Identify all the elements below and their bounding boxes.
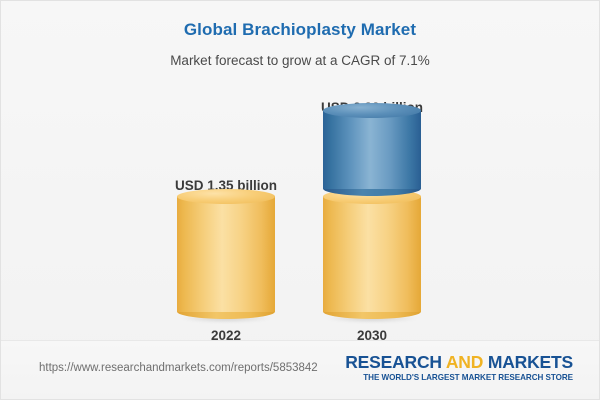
cylinder-top-ellipse (177, 189, 275, 204)
logo-word-research: RESEARCH (345, 352, 442, 372)
bar-segment-2030-base[interactable] (323, 189, 421, 319)
cylinder-body (323, 110, 421, 189)
market-chart-card: Global Brachioplasty Market Market forec… (0, 0, 600, 400)
chart-subtitle: Market forecast to grow at a CAGR of 7.1… (1, 53, 599, 68)
logo-word-markets: MARKETS (488, 352, 573, 372)
logo-tagline: THE WORLD'S LARGEST MARKET RESEARCH STOR… (345, 373, 573, 382)
bar-segment-2030-growth[interactable] (323, 103, 421, 196)
cylinder-body (323, 196, 421, 312)
footer: https://www.researchandmarkets.com/repor… (1, 340, 599, 399)
research-and-markets-logo[interactable]: RESEARCH AND MARKETS THE WORLD'S LARGEST… (345, 353, 573, 382)
bar-segment-2022-base[interactable] (177, 189, 275, 319)
chart-title: Global Brachioplasty Market (1, 20, 599, 40)
plot-area: USD 1.35 billion 2022 USD 2.32 billion (1, 81, 600, 341)
logo-wordmark: RESEARCH AND MARKETS (345, 353, 573, 371)
source-url[interactable]: https://www.researchandmarkets.com/repor… (39, 362, 318, 374)
logo-word-and: AND (446, 352, 483, 372)
cylinder-body (177, 196, 275, 312)
cylinder-top-ellipse (323, 103, 421, 118)
